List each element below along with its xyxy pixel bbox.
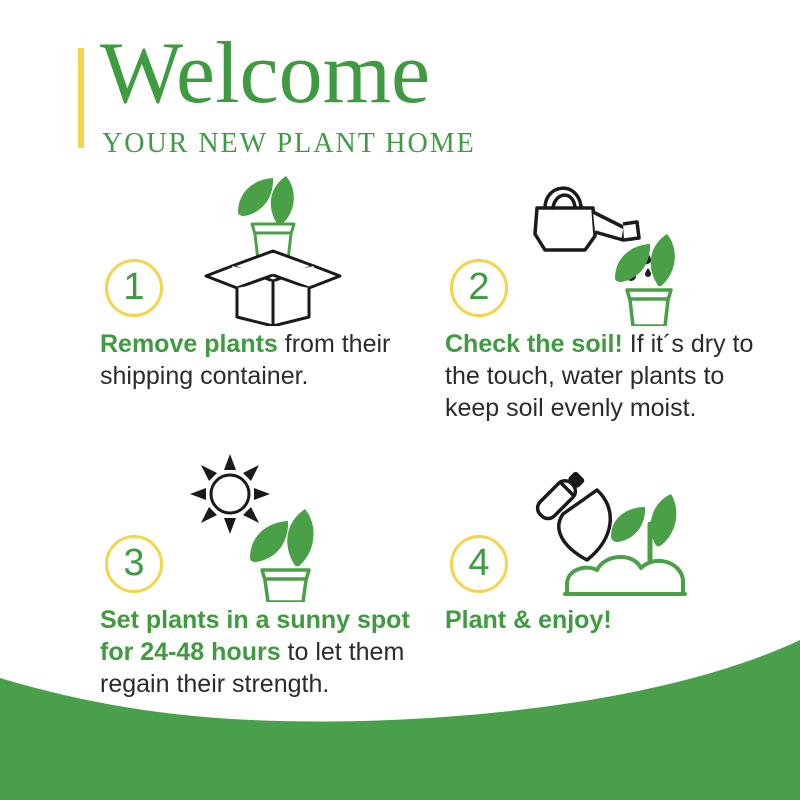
step-4-highlight: Plant & enjoy! [445,606,612,634]
step-2-visual: 2 [445,176,775,326]
plant-in-open-box-icon [170,176,420,326]
bottom-green-banner [0,640,800,800]
step-1-number: 1 [123,268,144,306]
step-1-number-badge: 1 [105,259,163,317]
step-4-number-badge: 4 [450,535,508,593]
step-1-text: Remove plants from their shipping contai… [100,328,430,392]
step-2-text: Check the soil! If it´s dry to the touch… [445,328,775,424]
accent-bar [78,48,84,148]
step-3-visual: 3 [100,452,430,602]
trowel-and-seedling-icon [515,452,765,602]
step-4: 4 [445,452,775,636]
step-2-number-badge: 2 [450,259,508,317]
page-subtitle: YOUR NEW PLANT HOME [102,128,476,160]
header: Welcome YOUR NEW PLANT HOME [78,46,718,156]
step-1-highlight: Remove plants [100,330,278,358]
step-2-highlight: Check the soil! [445,330,623,358]
step-4-number: 4 [468,544,489,582]
sun-and-plant-icon [170,452,420,602]
step-4-visual: 4 [445,452,775,602]
welcome-plant-care-infographic: Welcome YOUR NEW PLANT HOME 1 [0,0,800,800]
step-2: 2 [445,176,775,424]
step-2-number: 2 [468,268,489,306]
step-1: 1 [100,176,430,392]
step-3-number-badge: 3 [105,535,163,593]
step-4-text: Plant & enjoy! [445,604,775,636]
step-3-number: 3 [123,544,144,582]
step-1-visual: 1 [100,176,430,326]
watering-can-and-plant-icon [515,176,765,326]
page-title: Welcome [100,30,430,118]
